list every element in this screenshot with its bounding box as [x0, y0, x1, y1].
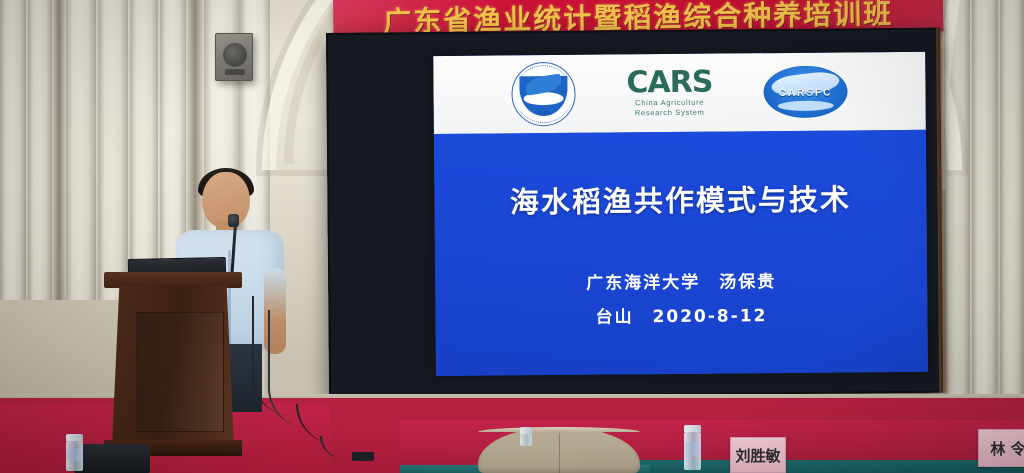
- bottle-body: [520, 434, 532, 446]
- carsfc-text: CARSFC: [763, 87, 847, 99]
- podium-body: [112, 286, 234, 446]
- cars-wordmark-icon: CARS China Agriculture Research System: [609, 67, 729, 118]
- carsfc-oval-icon: CARSFC: [763, 65, 847, 118]
- bottle-cap: [684, 425, 701, 432]
- cars-mark-text: CARS: [609, 67, 729, 98]
- chair-seam: [559, 433, 560, 473]
- slide-logo-band: 1935 CARS China Agriculture Research Sys…: [433, 52, 926, 134]
- slide-body: 海水稻渔共作模式与技术 广东海洋大学 汤保贵 台山 2020-8-12: [434, 130, 928, 376]
- presentation-slide: 1935 CARS China Agriculture Research Sys…: [433, 52, 928, 376]
- water-bottle-table-1: [684, 425, 701, 470]
- pilaster-right-3: [1000, 0, 1024, 430]
- presentation-photo-scene: 广东省渔业统计暨稻渔综合种养培训班 1935 CARS China Agricu…: [0, 0, 1024, 473]
- emblem-year-text: 1935: [537, 110, 550, 116]
- bottle-body: [684, 432, 701, 470]
- nameplate-left-text: 刘胜敏: [735, 445, 780, 466]
- slide-organization: 广东海洋大学 汤保贵: [435, 266, 927, 295]
- nameplate-right: 林 令: [978, 429, 1024, 467]
- slide-title: 海水稻渔共作模式与技术: [434, 176, 926, 222]
- water-bottle-table-2: [520, 427, 532, 446]
- water-bottle-left: [66, 434, 83, 471]
- wall-speaker: [215, 33, 253, 81]
- speaker-vent: [225, 69, 245, 75]
- projection-screen-frame: 1935 CARS China Agriculture Research Sys…: [326, 28, 943, 398]
- podium-top: [104, 272, 242, 288]
- gdou-fishery-emblem-icon: 1935: [511, 62, 576, 127]
- podium-front-panel: [136, 312, 224, 432]
- nameplate-left: 刘胜敏: [730, 437, 786, 473]
- stage-cable-connector: [352, 452, 374, 461]
- chair-rim: [478, 427, 640, 432]
- bottle-cap: [520, 427, 532, 434]
- cars-subtitle-line2: Research System: [610, 107, 730, 118]
- presenter-head: [202, 172, 250, 228]
- bottle-cap: [66, 434, 83, 441]
- speaker-cone-icon: [223, 43, 247, 67]
- bottle-label: [66, 449, 83, 461]
- nameplate-right-text: 林 令: [990, 438, 1024, 459]
- slide-place-date: 台山 2020-8-12: [435, 300, 927, 329]
- podium: [104, 272, 242, 457]
- bag-at-podium: [74, 444, 150, 473]
- pilaster-right-2: [972, 0, 998, 430]
- bottle-label: [684, 442, 701, 457]
- bottle-body: [66, 441, 83, 471]
